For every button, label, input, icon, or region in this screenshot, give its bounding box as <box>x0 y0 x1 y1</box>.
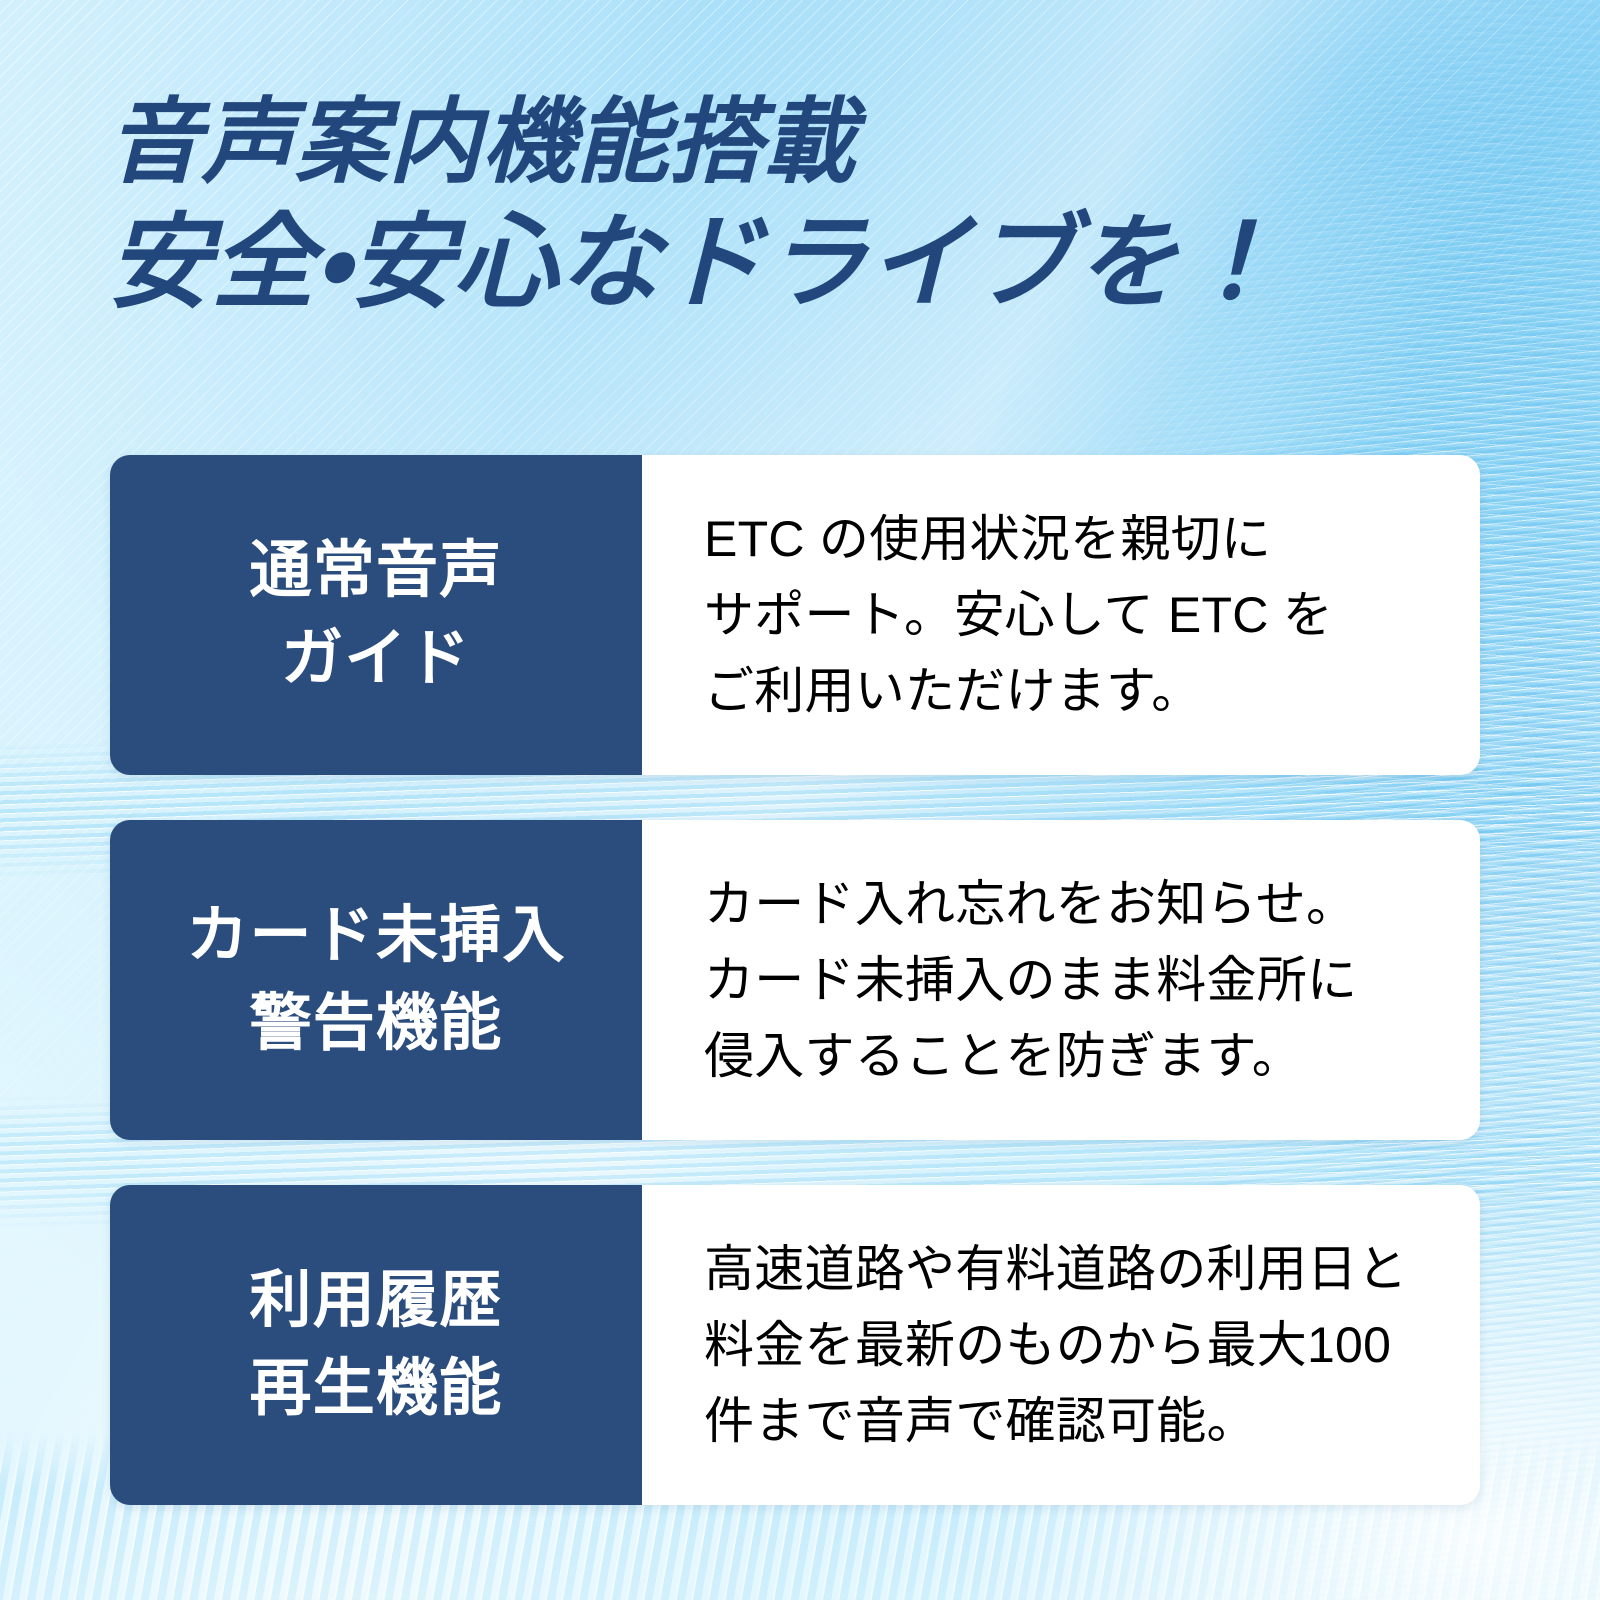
feature-card: 利用履歴 再生機能 高速道路や有料道路の利用日と 料金を最新のものから最大100… <box>110 1185 1480 1505</box>
feature-description-panel: カード入れ忘れをお知らせ。 カード未挿入のまま料金所に 侵入することを防ぎます。 <box>642 820 1480 1140</box>
feature-label-panel: 通常音声 ガイド <box>110 455 642 775</box>
headline-line-1: 音声案内機能搭載 <box>108 96 1508 189</box>
feature-card: カード未挿入 警告機能 カード入れ忘れをお知らせ。 カード未挿入のまま料金所に … <box>110 820 1480 1140</box>
feature-description-line: 料金を最新のものから最大100 <box>704 1307 1446 1383</box>
feature-label-line: ガイド <box>281 615 471 703</box>
feature-label-panel: カード未挿入 警告機能 <box>110 820 642 1140</box>
feature-description-line: 侵入することを防ぎます。 <box>704 1018 1446 1094</box>
feature-description-line: カード未挿入のまま料金所に <box>704 942 1446 1018</box>
feature-label-line: カード未挿入 <box>186 892 565 980</box>
feature-description-line: 高速道路や有料道路の利用日と <box>704 1231 1446 1307</box>
feature-description-line: ご利用いただけます。 <box>704 653 1446 729</box>
feature-description-panel: ETC の使用状況を親切に サポート。安心して ETC を ご利用いただけます。 <box>642 455 1480 775</box>
feature-label-line: 通常音声 <box>250 527 503 615</box>
feature-label-panel: 利用履歴 再生機能 <box>110 1185 642 1505</box>
feature-description-line: ETC の使用状況を親切に <box>704 501 1446 577</box>
feature-card-list: 通常音声 ガイド ETC の使用状況を親切に サポート。安心して ETC を ご… <box>110 455 1480 1505</box>
feature-label-line: 再生機能 <box>250 1345 503 1433</box>
feature-description-panel: 高速道路や有料道路の利用日と 料金を最新のものから最大100 件まで音声で確認可… <box>642 1185 1480 1505</box>
feature-description-line: 件まで音声で確認可能。 <box>704 1383 1446 1459</box>
feature-description-line: カード入れ忘れをお知らせ。 <box>704 866 1446 942</box>
poster-root: 音声案内機能搭載 安全・安心なドライブを！ 通常音声 ガイド ETC の使用状況… <box>0 0 1600 1600</box>
feature-label-line: 利用履歴 <box>250 1257 503 1345</box>
headline-block: 音声案内機能搭載 安全・安心なドライブを！ <box>108 96 1508 314</box>
feature-description-line: サポート。安心して ETC を <box>704 577 1446 653</box>
headline-line-2: 安全・安心なドライブを！ <box>108 211 1508 314</box>
feature-label-line: 警告機能 <box>250 980 503 1068</box>
feature-card: 通常音声 ガイド ETC の使用状況を親切に サポート。安心して ETC を ご… <box>110 455 1480 775</box>
